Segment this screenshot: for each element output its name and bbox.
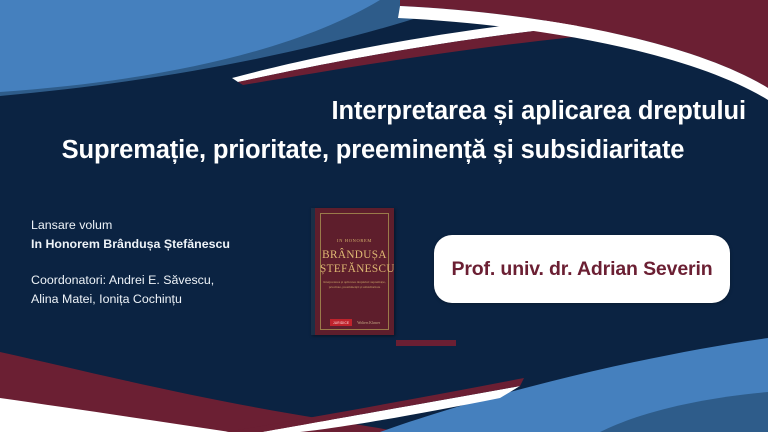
presentation-slide: Interpretarea și aplicarea dreptului Sup… [0, 0, 768, 432]
coordinators-line-1: Coordonatori: Andrei E. Săvescu, [31, 271, 306, 290]
title-line-primary: Interpretarea și aplicarea dreptului [0, 94, 746, 128]
book-cover-subtitle-line-2: prioritate, preeminență și subsidiaritat… [322, 285, 387, 290]
book-spine [311, 208, 315, 335]
book-cover-image: IN HONOREM BRÂNDUȘA ȘTEFĂNESCU Interpret… [311, 208, 394, 335]
book-cover-author-line-2: ȘTEFĂNESCU [320, 263, 389, 277]
book-cover-eyebrow: IN HONOREM [320, 238, 389, 243]
launch-label: Lansare volum [31, 216, 306, 235]
speaker-name-card: Prof. univ. dr. Adrian Severin [434, 235, 730, 303]
slide-title: Interpretarea și aplicarea dreptului Sup… [0, 94, 768, 167]
info-spacer [31, 254, 306, 271]
accent-tab-maroon [396, 340, 456, 346]
book-cover-author-line-1: BRÂNDUȘA [320, 249, 389, 263]
coordinators-line-2: Alina Matei, Ionița Cochințu [31, 290, 306, 309]
speaker-name: Prof. univ. dr. Adrian Severin [452, 258, 713, 281]
book-cover-subtitle: Interpretarea și aplicarea dreptului: su… [322, 280, 387, 290]
imprint-logo: Wolters Kluwer [357, 321, 380, 325]
publisher-logo: JURIDICE [330, 319, 352, 326]
book-cover-author: BRÂNDUȘA ȘTEFĂNESCU [320, 249, 389, 276]
volume-title: In Honorem Brândușa Ștefănescu [31, 235, 306, 254]
book-cover-logos: JURIDICE Wolters Kluwer [323, 319, 387, 326]
event-info-block: Lansare volum In Honorem Brândușa Ștefăn… [31, 216, 306, 309]
title-line-secondary: Supremație, prioritate, preeminență și s… [0, 133, 746, 167]
